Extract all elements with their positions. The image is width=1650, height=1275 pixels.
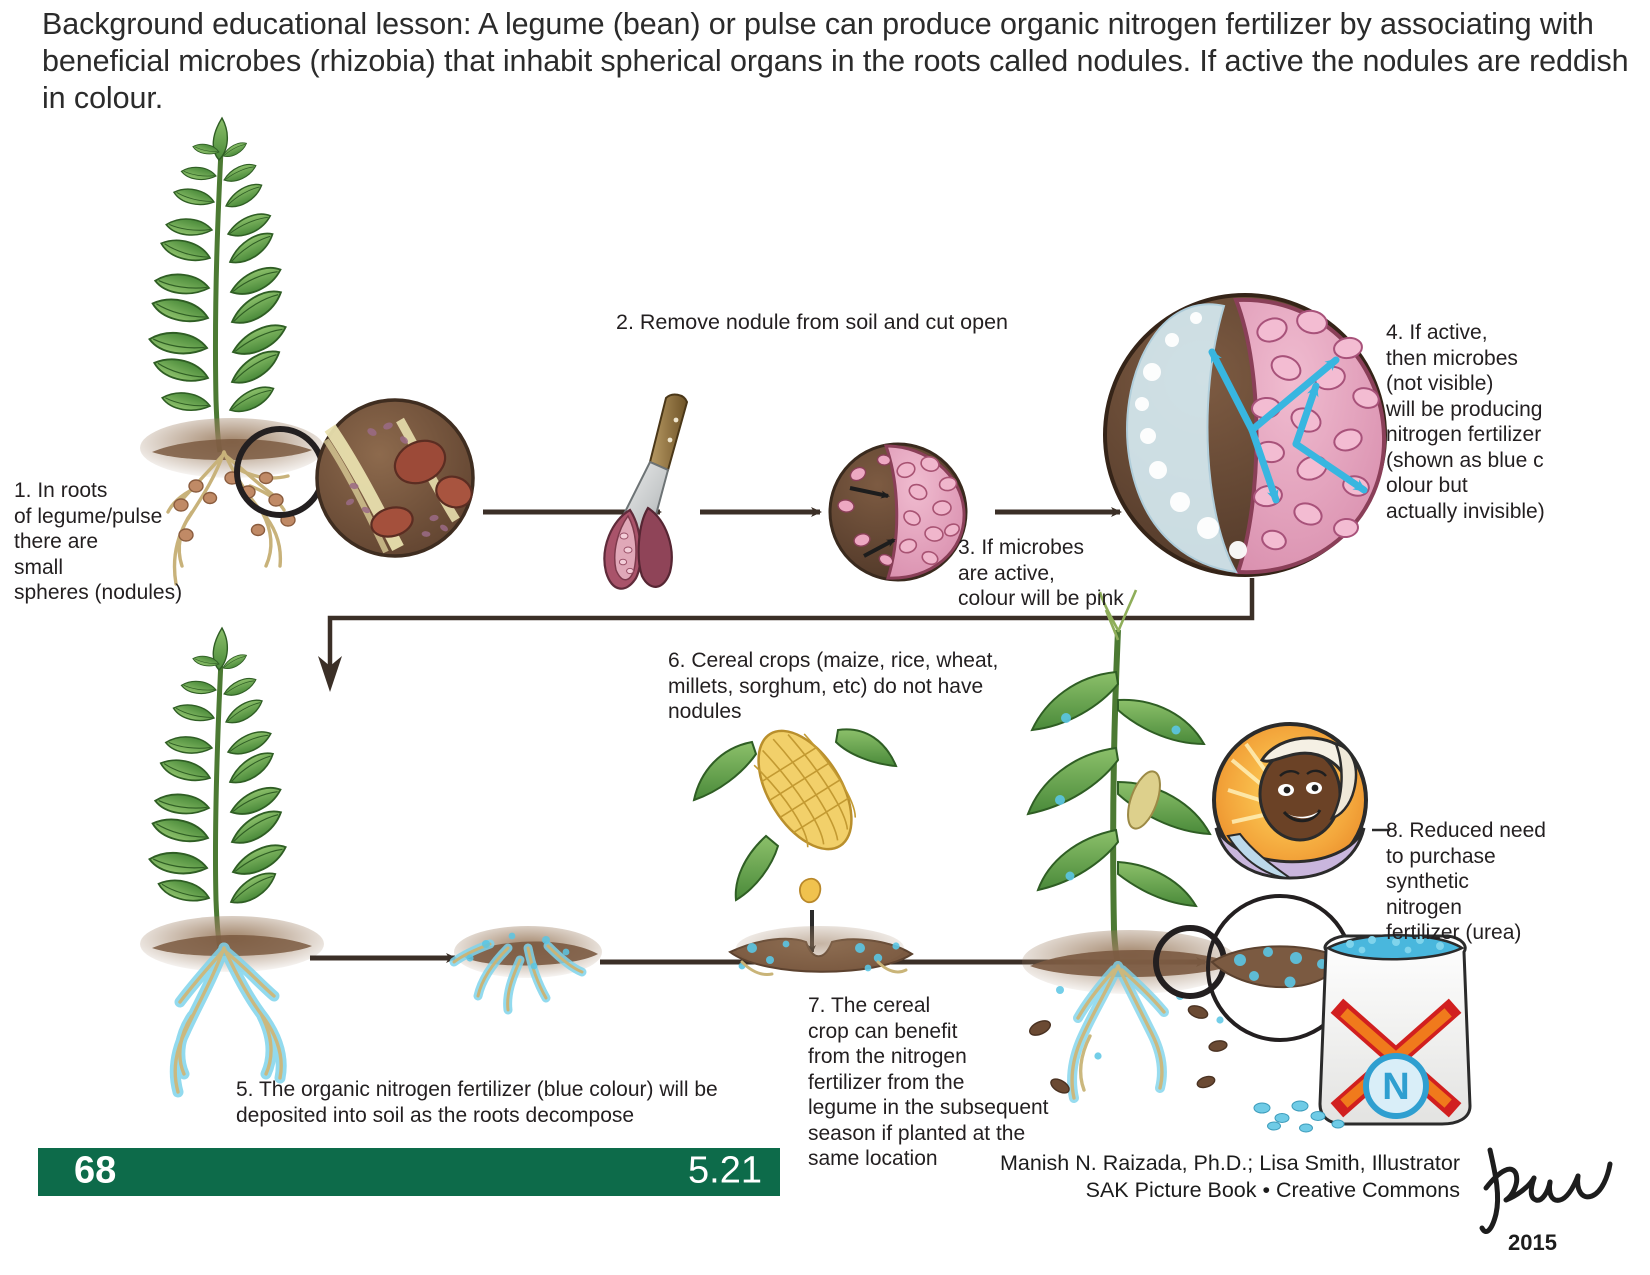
step-1-label: 1. In roots of legume/pulse there are sm… [14, 478, 244, 606]
active-nodule-with-blue-nitrogen-arrows [1105, 295, 1385, 575]
smiling-farmer-portrait [1214, 724, 1366, 878]
credits-block: Manish N. Raizada, Ph.D.; Lisa Smith, Il… [960, 1150, 1460, 1204]
footer-bar: 68 5.21 [38, 1148, 780, 1196]
page-number: 68 [74, 1150, 116, 1193]
step-7-label: 7. The cereal crop can benefit from the … [808, 993, 1058, 1172]
maize-cob [694, 715, 896, 900]
illustrator-signature: 2015 [1482, 1150, 1610, 1255]
decomposing-roots-in-soil [454, 926, 602, 1010]
step-8-label: 8. Reduced need to purchase synthetic ni… [1386, 818, 1636, 946]
credit-source: SAK Picture Book • Creative Commons [960, 1177, 1460, 1204]
pink-nodule-cut-open [830, 444, 966, 580]
signature-year: 2015 [1508, 1230, 1557, 1255]
page-canvas: Background educational lesson: A legume … [0, 0, 1650, 1275]
seed-in-planting-hole [730, 926, 912, 975]
step-4-label: 4. If active, then microbes (not visible… [1386, 320, 1636, 524]
legume-plant-with-blue-roots [140, 628, 324, 1092]
step-3-label: 3. If microbes are active, colour will b… [958, 535, 1198, 612]
soil-cross-section-circle [317, 400, 476, 556]
step-2-label: 2. Remove nodule from soil and cut open [616, 310, 1036, 336]
credit-authors: Manish N. Raizada, Ph.D.; Lisa Smith, Il… [960, 1150, 1460, 1177]
section-number: 5.21 [688, 1150, 762, 1193]
step-6-label: 6. Cereal crops (maize, rice, wheat, mil… [668, 648, 1008, 725]
svg-text:N: N [1382, 1066, 1409, 1108]
knife-cutting-nodule [604, 395, 687, 589]
step-5-label: 5. The organic nitrogen fertilizer (blue… [236, 1077, 756, 1128]
